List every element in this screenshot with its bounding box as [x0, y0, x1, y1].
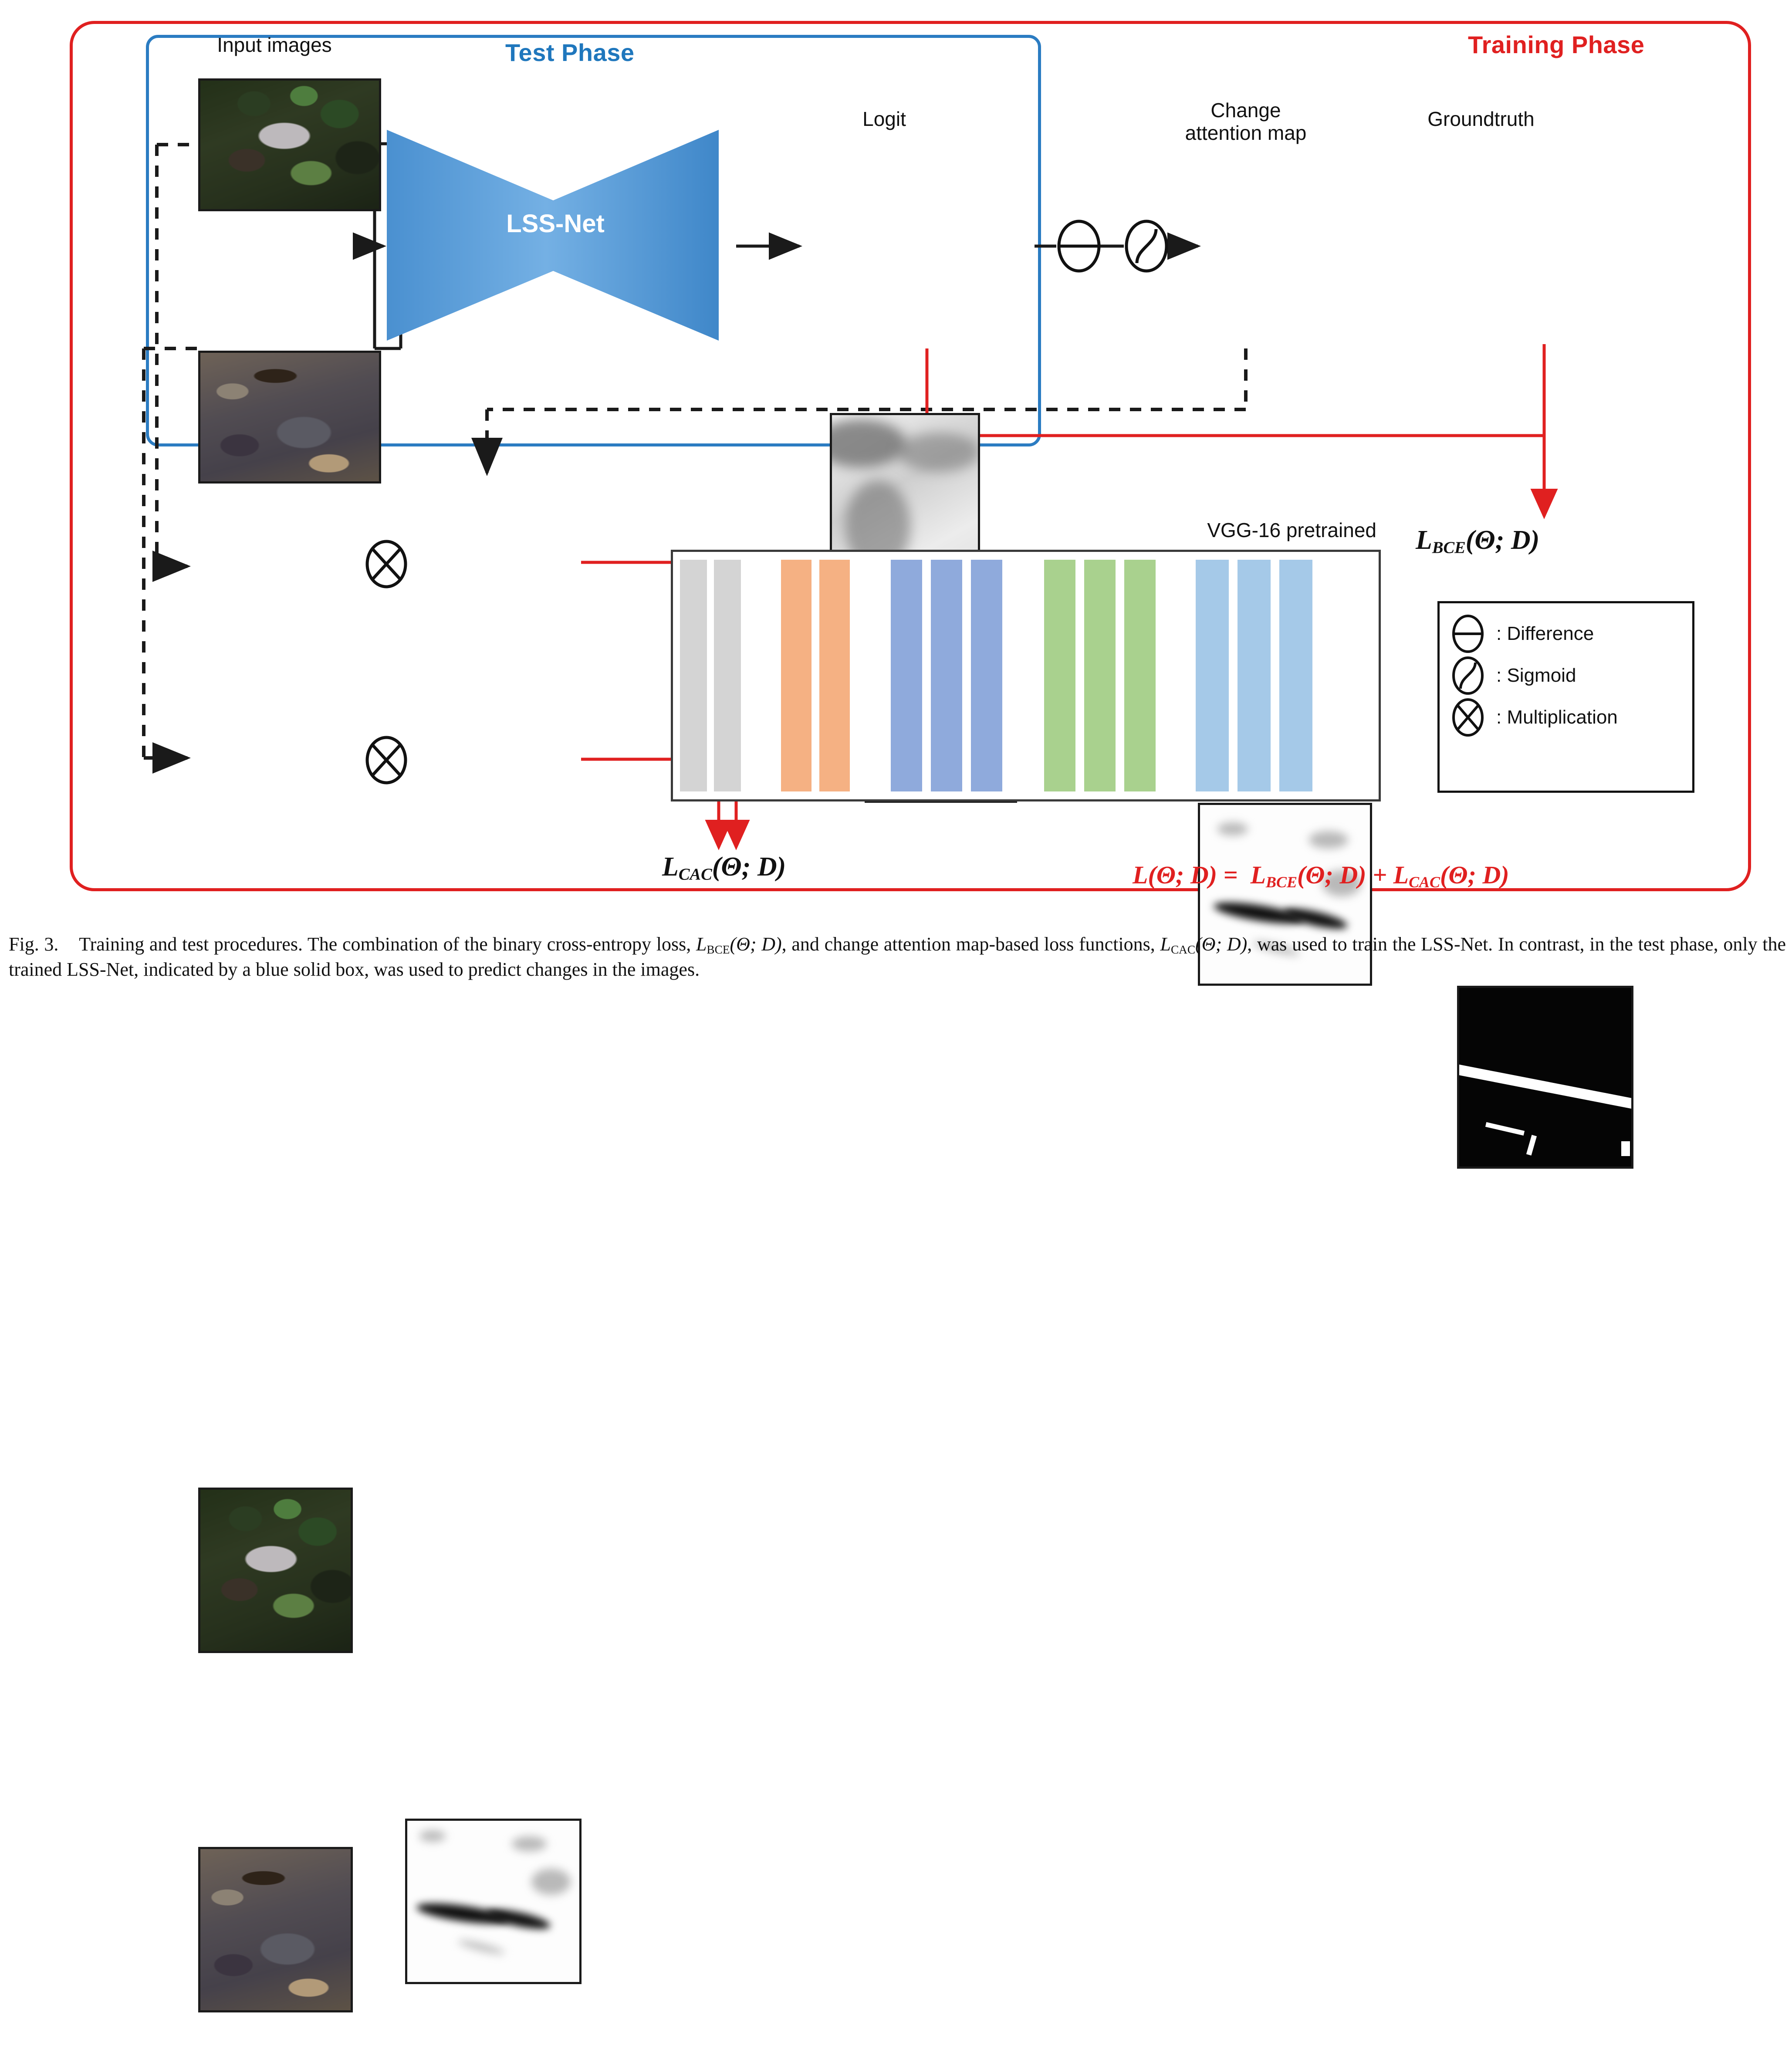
caption-cac-symbol: L [1160, 933, 1171, 955]
legend-label-sigmoid: : Sigmoid [1496, 665, 1576, 686]
lss-net-label: LSS-Net [383, 209, 727, 238]
masked-input-t2 [198, 1847, 353, 2012]
attention-map-t1 [405, 1819, 582, 1984]
cam-label-line1: Change [1137, 99, 1355, 122]
legend-item-difference: : Difference [1451, 613, 1681, 655]
sigmoid-icon [1124, 218, 1169, 274]
caption-bce-args: (Θ; D) [730, 933, 781, 955]
legend-item-sigmoid: : Sigmoid [1451, 655, 1681, 697]
lss-net-block[interactable]: LSS-Net [383, 126, 727, 344]
caption-cac-sub: CAC [1171, 943, 1195, 956]
vgg-bar [781, 560, 811, 791]
legend-item-multiplication: : Multiplication [1451, 697, 1681, 738]
multiplication-icon [1451, 697, 1485, 737]
masked-input-t1 [198, 1488, 353, 1653]
vgg-bar [714, 560, 741, 791]
caption-bce-symbol: L [696, 933, 707, 955]
input-image-t2 [198, 351, 381, 484]
caption-bce-sub: BCE [707, 943, 730, 956]
vgg-bar [931, 560, 962, 791]
figure-caption: Fig. 3. Training and test procedures. Th… [9, 932, 1786, 982]
caption-text-1: Training and test procedures. The combin… [79, 933, 696, 955]
groundtruth-image [1457, 986, 1633, 1169]
logit-label: Logit [815, 108, 954, 131]
vgg-bar [1084, 560, 1116, 791]
loss-cac-label: LCAC(Θ; D) [662, 852, 786, 884]
input-image-t1 [198, 78, 381, 211]
vgg-bar [891, 560, 922, 791]
difference-icon [1056, 218, 1102, 274]
caption-prefix: Fig. 3. [9, 933, 58, 955]
vgg-bar [1044, 560, 1075, 791]
multiplication-icon-bottom [364, 734, 409, 786]
legend-label-multiplication: : Multiplication [1496, 707, 1618, 728]
difference-icon [1451, 614, 1485, 654]
vgg-label: VGG-16 pretrained [1050, 519, 1376, 542]
caption-text-2: , and change attention map-based loss fu… [782, 933, 1160, 955]
vgg-bar [1237, 560, 1271, 791]
cam-label-line2: attention map [1137, 122, 1355, 145]
sigmoid-icon [1451, 656, 1485, 696]
total-loss-formula: L(Θ; D) = LBCE(Θ; D) + LCAC(Θ; D) [1133, 860, 1509, 891]
vgg-bar [819, 560, 850, 791]
vgg-bar [1124, 560, 1156, 791]
groundtruth-label: Groundtruth [1372, 108, 1590, 131]
vgg-bar [1279, 560, 1312, 791]
loss-bce-label: LBCE(Θ; D) [1416, 525, 1539, 558]
legend-box: : Difference : Sigmoid : Multiplication [1437, 601, 1694, 793]
caption-cac-args: (Θ; D) [1195, 933, 1247, 955]
figure-canvas: Test Phase Training Phase [0, 0, 1792, 1028]
multiplication-icon-top [364, 538, 409, 590]
change-attention-map-label: Change attention map [1137, 99, 1355, 144]
input-images-label: Input images [192, 34, 357, 57]
vgg-network-block[interactable] [671, 550, 1381, 801]
legend-label-difference: : Difference [1496, 623, 1594, 645]
vgg-bar [680, 560, 707, 791]
vgg-bar [1196, 560, 1229, 791]
vgg-bar [971, 560, 1002, 791]
